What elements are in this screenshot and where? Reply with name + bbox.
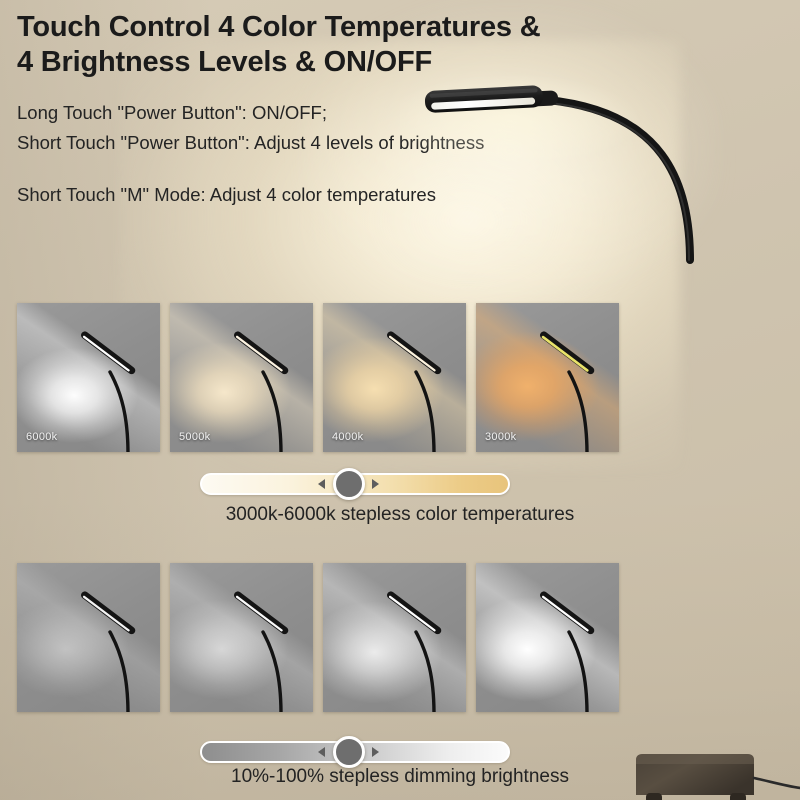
lamp-silhouette <box>529 563 619 712</box>
lamp-silhouette <box>223 563 313 712</box>
lamp-silhouette <box>376 303 466 452</box>
instructions-block: Long Touch "Power Button": ON/OFF; Short… <box>17 98 617 210</box>
thumbnail-label: 3000k <box>485 431 516 443</box>
brightness-caption: 10%-100% stepless dimming brightness <box>0 766 800 788</box>
thumbnail-label: 4000k <box>332 431 363 443</box>
lamp-silhouette <box>529 303 619 452</box>
headline-line-1: Touch Control 4 Color Temperatures & <box>17 10 657 45</box>
thumbnail-brightness-level-4[interactable] <box>476 563 619 712</box>
instruction-spacer <box>17 158 617 180</box>
instruction-line-3: Short Touch "M" Mode: Adjust 4 color tem… <box>17 180 617 210</box>
page-title: Touch Control 4 Color Temperatures & 4 B… <box>17 10 657 80</box>
product-infographic: Touch Control 4 Color Temperatures & 4 B… <box>0 0 800 800</box>
left-arrow-icon <box>318 479 325 489</box>
color-temperature-slider[interactable] <box>200 468 510 500</box>
brightness-slider[interactable] <box>200 736 510 768</box>
thumbnail-6000k[interactable]: 6000k <box>17 303 160 452</box>
thumbnail-brightness-level-1[interactable] <box>17 563 160 712</box>
lamp-silhouette <box>223 303 313 452</box>
instruction-line-2: Short Touch "Power Button": Adjust 4 lev… <box>17 128 617 158</box>
thumbnail-4000k[interactable]: 4000k <box>323 303 466 452</box>
lamp-silhouette <box>70 563 160 712</box>
slider-knob[interactable] <box>333 736 365 768</box>
thumbnail-brightness-level-3[interactable] <box>323 563 466 712</box>
thumbnail-5000k[interactable]: 5000k <box>170 303 313 452</box>
slider-knob[interactable] <box>333 468 365 500</box>
thumbnail-3000k[interactable]: 3000k <box>476 303 619 452</box>
lamp-silhouette <box>70 303 160 452</box>
thumbnail-label: 6000k <box>26 431 57 443</box>
right-arrow-icon <box>372 747 379 757</box>
color-temperature-thumbnail-row: 6000k 5000k <box>17 303 619 452</box>
thumbnail-label: 5000k <box>179 431 210 443</box>
lamp-silhouette <box>376 563 466 712</box>
color-temperature-caption: 3000k-6000k stepless color temperatures <box>0 504 800 526</box>
right-arrow-icon <box>372 479 379 489</box>
thumbnail-brightness-level-2[interactable] <box>170 563 313 712</box>
instruction-line-1: Long Touch "Power Button": ON/OFF; <box>17 98 617 128</box>
brightness-thumbnail-row <box>17 563 619 712</box>
left-arrow-icon <box>318 747 325 757</box>
headline-line-2: 4 Brightness Levels & ON/OFF <box>17 45 657 80</box>
